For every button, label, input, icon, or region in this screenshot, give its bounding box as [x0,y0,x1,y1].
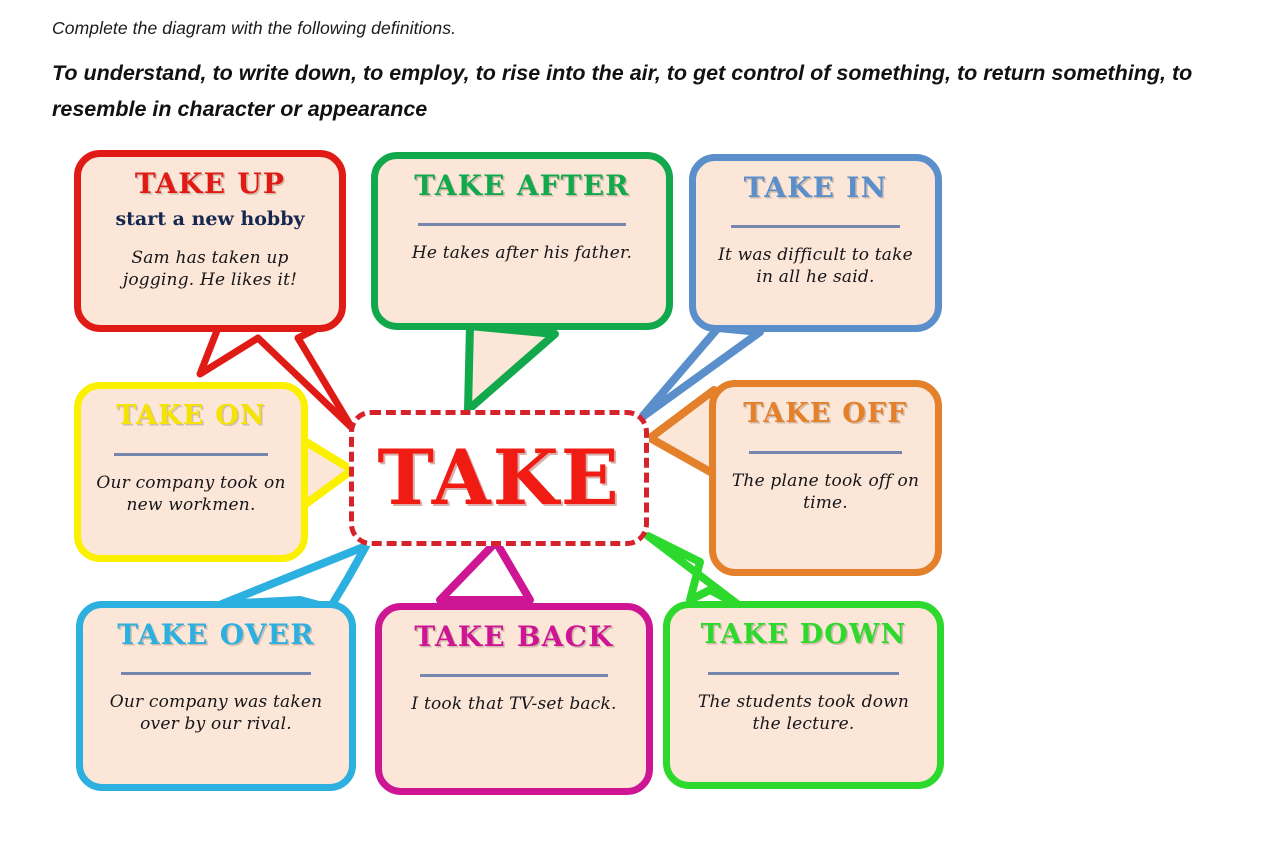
bubble-take-in[interactable]: TAKE IN It was difficult to take in all … [689,154,942,332]
instruction-task-line: Complete the diagram with the following … [52,18,1252,39]
center-label: TAKE [377,438,620,518]
answer-line-take-on[interactable] [114,453,268,456]
phrasal-verb-diagram: TAKE UP start a new hobby Sam has taken … [0,138,1271,838]
bubble-take-after[interactable]: TAKE AFTER He takes after his father. [371,152,673,330]
answer-line-take-off[interactable] [749,451,902,454]
bubble-title-take-after: TAKE AFTER [392,169,652,203]
bubble-title-take-off: TAKE OFF [730,397,921,431]
center-node-take: TAKE [349,410,649,546]
bubble-take-on[interactable]: TAKE ON Our company took on new workmen. [74,382,308,562]
bubble-take-back[interactable]: TAKE BACK I took that TV-set back. [375,603,653,795]
bubble-example-take-down: The students took down the lecture. [684,691,923,735]
connector-take-on [303,440,352,506]
bubble-title-take-down: TAKE DOWN [684,618,923,652]
answer-line-take-down[interactable] [708,672,899,675]
bubble-title-take-on: TAKE ON [95,399,287,433]
bubble-example-take-on: Our company took on new workmen. [95,472,287,516]
bubble-answer-take-up[interactable]: start a new hobby [95,207,325,231]
bubble-take-over[interactable]: TAKE OVER Our company was taken over by … [76,601,356,791]
answer-line-take-in[interactable] [731,225,900,228]
instructions-block: Complete the diagram with the following … [52,18,1252,127]
connector-take-back [440,542,530,600]
bubble-title-take-in: TAKE IN [710,171,921,205]
bubble-title-take-back: TAKE BACK [396,620,632,654]
connector-take-off [650,390,714,474]
bubble-example-take-after: He takes after his father. [392,242,652,264]
bubble-example-take-back: I took that TV-set back. [396,693,632,715]
connector-take-after [468,326,555,410]
instruction-definitions-line: To understand, to write down, to employ,… [52,55,1247,127]
answer-line-take-after[interactable] [418,223,626,226]
bubble-take-up[interactable]: TAKE UP start a new hobby Sam has taken … [74,150,346,332]
answer-line-take-back[interactable] [420,674,609,677]
bubble-take-off[interactable]: TAKE OFF The plane took off on time. [709,380,942,576]
bubble-title-take-over: TAKE OVER [97,618,335,652]
bubble-take-down[interactable]: TAKE DOWN The students took down the lec… [663,601,944,789]
bubble-example-take-off: The plane took off on time. [730,470,921,514]
bubble-example-take-up: Sam has taken up jogging. He likes it! [95,247,325,291]
answer-line-take-over[interactable] [121,672,311,675]
bubble-example-take-in: It was difficult to take in all he said. [710,244,921,288]
bubble-example-take-over: Our company was taken over by our rival. [97,691,335,735]
bubble-title-take-up: TAKE UP [95,167,325,201]
